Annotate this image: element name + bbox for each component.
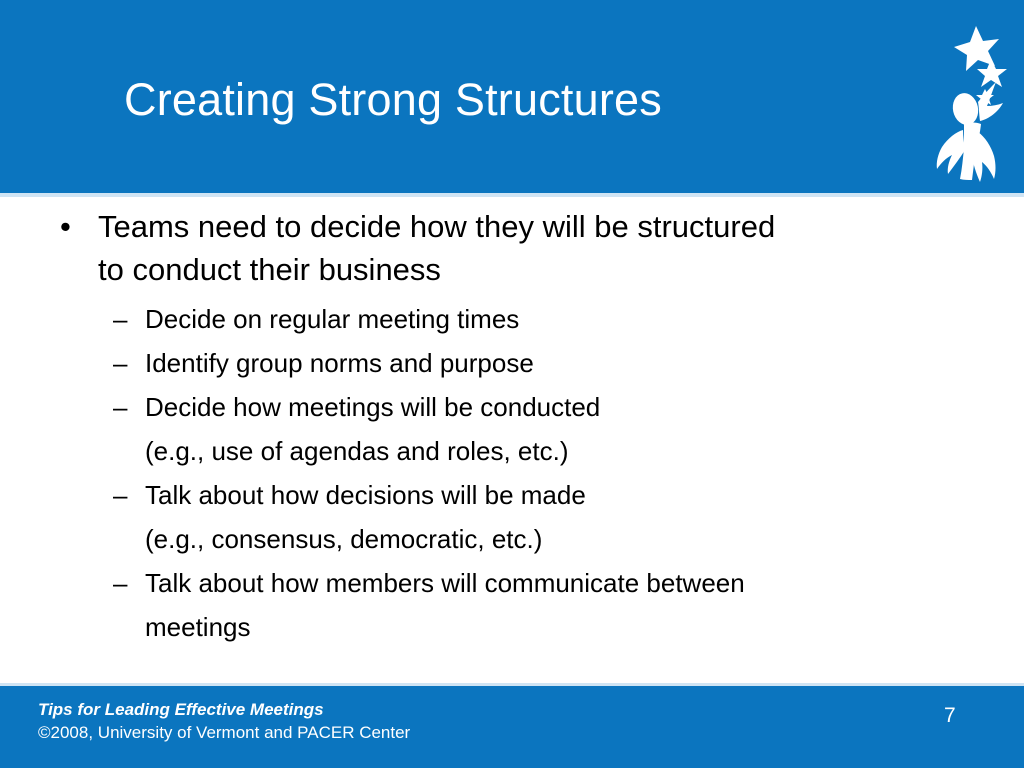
slide-body: • Teams need to decide how they will be … — [0, 205, 1024, 675]
sub-bullet-text: Decide how meetings will be conducted — [145, 385, 945, 429]
page-number: 7 — [944, 703, 984, 729]
sub-bullet-text: Talk about how decisions will be made — [145, 473, 945, 517]
bullet-marker-icon: • — [60, 205, 71, 248]
footer-document-title: Tips for Leading Effective Meetings — [38, 699, 324, 720]
list-item: – Talk about how members will communicat… — [0, 561, 1024, 649]
header-separator-rule — [0, 193, 1024, 197]
list-item: – Identify group norms and purpose — [0, 341, 1024, 385]
page-title: Creating Strong Structures — [124, 66, 914, 136]
presentation-slide: Creating Strong Structures — [0, 0, 1024, 768]
bullet-level1: • Teams need to decide how they will be … — [0, 205, 1024, 291]
figure-raised-arm — [978, 82, 1003, 121]
figure-head — [950, 91, 981, 127]
sub-bullet-continuation: (e.g., use of agendas and roles, etc.) — [145, 429, 945, 473]
sub-bullet-continuation: (e.g., consensus, democratic, etc.) — [145, 517, 945, 561]
sub-bullet-text: Talk about how members will communicate … — [145, 561, 945, 605]
dash-marker-icon: – — [113, 341, 127, 385]
sub-bullet-text: Decide on regular meeting times — [145, 297, 945, 341]
dash-marker-icon: – — [113, 297, 127, 341]
pacer-logo — [930, 6, 1018, 188]
dash-marker-icon: – — [113, 473, 127, 517]
list-item: – Decide on regular meeting times — [0, 297, 1024, 341]
sub-bullet-list: – Decide on regular meeting times – Iden… — [0, 297, 1024, 649]
dash-marker-icon: – — [113, 561, 127, 605]
dash-marker-icon: – — [113, 385, 127, 429]
list-item: – Decide how meetings will be conducted … — [0, 385, 1024, 473]
list-item: – Talk about how decisions will be made … — [0, 473, 1024, 561]
footer-copyright: ©2008, University of Vermont and PACER C… — [38, 722, 410, 744]
bullet-level1-text: Teams need to decide how they will be st… — [98, 205, 798, 291]
figure-left-flourish — [937, 130, 965, 174]
sub-bullet-continuation: meetings — [145, 605, 945, 649]
sub-bullet-text: Identify group norms and purpose — [145, 341, 945, 385]
star-medium-icon — [977, 59, 1007, 87]
